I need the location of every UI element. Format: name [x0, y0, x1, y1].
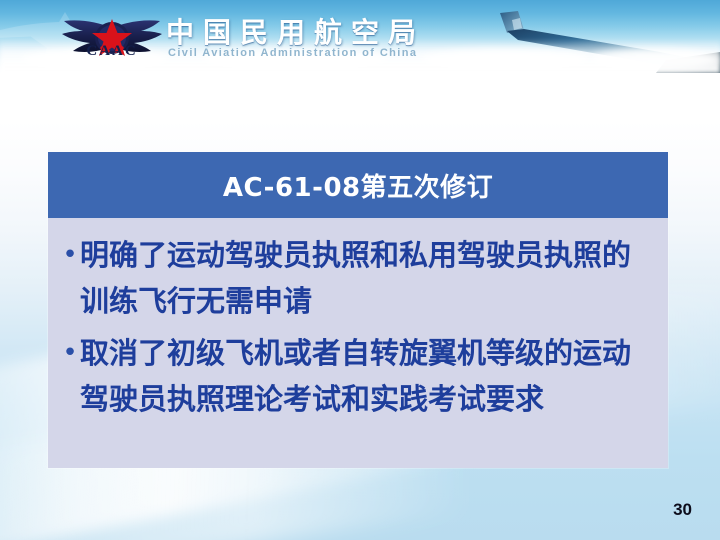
page-number: 30	[673, 500, 692, 520]
bullet-marker-icon: •	[60, 232, 80, 278]
slide-canvas: CAAC 中国民用航空局 Civil Aviation Administrati…	[0, 0, 720, 540]
list-item: • 明确了运动驾驶员执照和私用驾驶员执照的训练飞行无需申请	[60, 232, 652, 324]
header-cloud-puff	[590, 49, 720, 71]
header-organization-cn: 中国民用航空局	[166, 11, 425, 51]
list-item: • 取消了初级飞机或者自转旋翼机等级的运动驾驶员执照理论考试和实践考试要求	[60, 330, 652, 422]
header-banner: CAAC 中国民用航空局 Civil Aviation Administrati…	[0, 0, 720, 73]
bullet-marker-icon: •	[60, 330, 80, 376]
header-organization-en: Civil Aviation Administration of China	[168, 47, 417, 59]
content-body: • 明确了运动驾驶员执照和私用驾驶员执照的训练飞行无需申请 • 取消了初级飞机或…	[48, 218, 668, 422]
bullet-list: • 明确了运动驾驶员执照和私用驾驶员执照的训练飞行无需申请 • 取消了初级飞机或…	[60, 232, 652, 422]
header-cloud-puff	[420, 49, 590, 71]
content-title-bar: AC-61-08第五次修订	[48, 152, 668, 218]
content-panel: AC-61-08第五次修订 • 明确了运动驾驶员执照和私用驾驶员执照的训练飞行无…	[48, 152, 668, 468]
bullet-text: 取消了初级飞机或者自转旋翼机等级的运动驾驶员执照理论考试和实践考试要求	[80, 330, 652, 422]
caac-acronym-label: CAAC	[57, 44, 167, 59]
bullet-text: 明确了运动驾驶员执照和私用驾驶员执照的训练飞行无需申请	[80, 232, 652, 324]
content-title-text: AC-61-08第五次修订	[223, 167, 493, 204]
